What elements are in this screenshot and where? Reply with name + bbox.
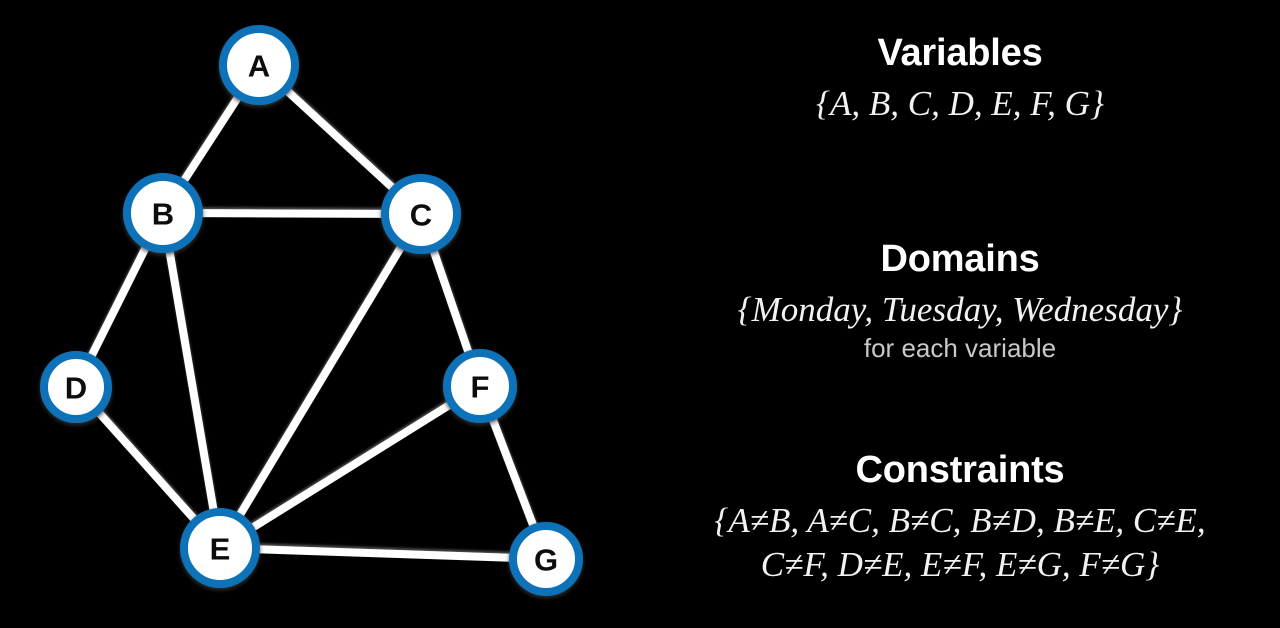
constraint-graph-panel: ABCDEFG	[0, 0, 640, 628]
graph-node-g[interactable]: G	[513, 526, 579, 592]
node-label-b: B	[152, 197, 174, 232]
variables-heading: Variables	[640, 30, 1280, 76]
constraints-set-line-2: C≠F, D≠E, E≠F, E≠G, F≠G}	[640, 543, 1280, 587]
node-label-e: E	[210, 532, 231, 567]
graph-node-f[interactable]: F	[447, 353, 513, 419]
variables-section: Variables {A, B, C, D, E, F, G}	[640, 30, 1280, 126]
node-label-d: D	[65, 371, 87, 406]
graph-node-c[interactable]: C	[385, 178, 457, 250]
domains-heading: Domains	[640, 236, 1280, 282]
domains-set: {Monday, Tuesday, Wednesday}	[640, 288, 1280, 332]
csp-definition-panel: Variables {A, B, C, D, E, F, G} Domains …	[640, 0, 1280, 628]
constraints-heading: Constraints	[640, 447, 1280, 493]
constraints-section: Constraints {A≠B, A≠C, B≠C, B≠D, B≠E, C≠…	[640, 447, 1280, 587]
graph-node-e[interactable]: E	[184, 512, 256, 584]
constraints-set-line-1: {A≠B, A≠C, B≠C, B≠D, B≠E, C≠E,	[640, 499, 1280, 543]
node-label-a: A	[248, 49, 270, 84]
graph-node-a[interactable]: A	[223, 29, 295, 101]
graph-node-d[interactable]: D	[44, 355, 108, 419]
graph-edge-c-e	[220, 214, 421, 548]
graph-edge-e-g	[220, 548, 546, 559]
slide-root: ABCDEFG Variables {A, B, C, D, E, F, G} …	[0, 0, 1280, 628]
graph-node-b[interactable]: B	[127, 177, 199, 249]
variables-set: {A, B, C, D, E, F, G}	[640, 82, 1280, 126]
domains-note: for each variable	[640, 332, 1280, 364]
node-label-g: G	[534, 543, 558, 578]
graph-edge-e-f	[220, 386, 480, 548]
domains-section: Domains {Monday, Tuesday, Wednesday} for…	[640, 236, 1280, 364]
constraint-graph-svg: ABCDEFG	[0, 0, 640, 628]
graph-edge-layer	[76, 65, 546, 559]
node-label-f: F	[471, 370, 490, 405]
node-label-c: C	[410, 198, 432, 233]
